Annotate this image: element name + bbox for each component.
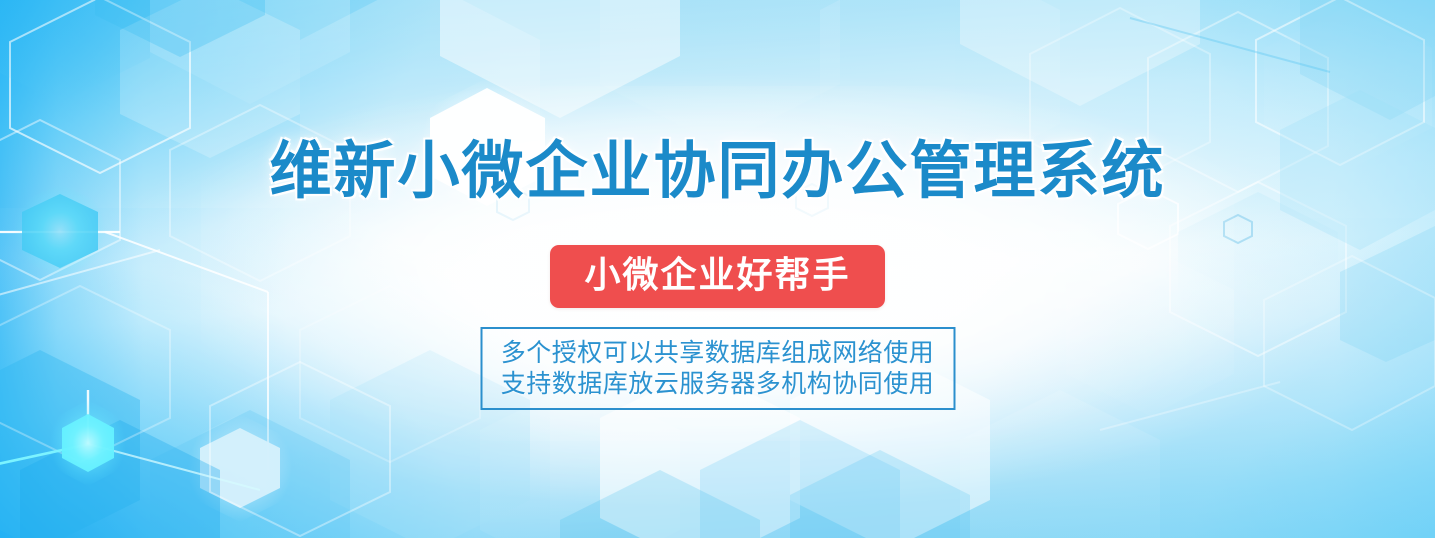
feature-info-line-2: 支持数据库放云服务器多机构协同使用 [482,368,953,399]
tagline-badge: 小微企业好帮手 [550,245,884,308]
hero-banner: 维新小微企业协同办公管理系统 小微企业好帮手 多个授权可以共享数据库组成网络使用… [0,0,1435,538]
feature-info-box: 多个授权可以共享数据库组成网络使用 支持数据库放云服务器多机构协同使用 [480,327,955,410]
feature-info-line-1: 多个授权可以共享数据库组成网络使用 [482,337,953,368]
tagline-badge-row: 小微企业好帮手 [0,245,1435,308]
banner-content: 维新小微企业协同办公管理系统 小微企业好帮手 多个授权可以共享数据库组成网络使用… [0,0,1435,538]
page-title: 维新小微企业协同办公管理系统 [0,140,1435,202]
